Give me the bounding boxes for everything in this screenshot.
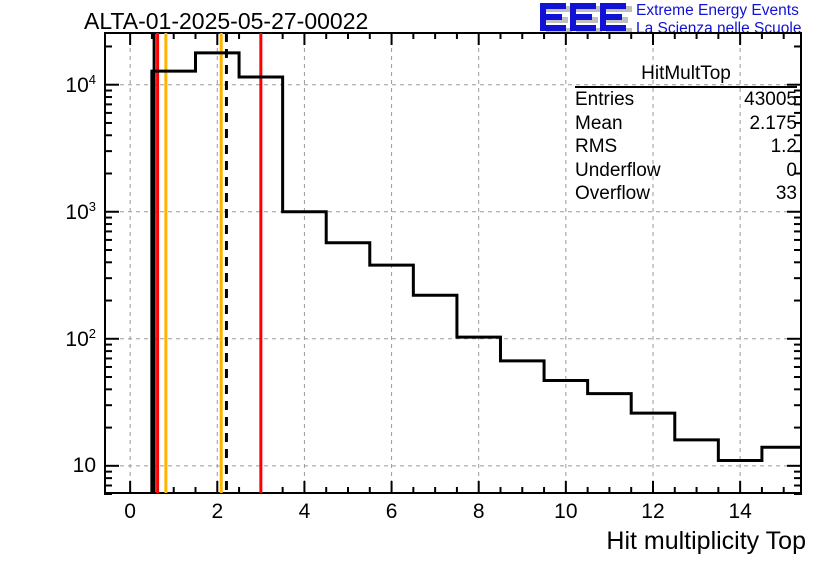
stats-box-rows: Entries43005Mean2.175RMS1.2Underflow0Ove… — [575, 88, 797, 206]
x-tick-label: 10 — [554, 500, 577, 524]
x-tick-label: 12 — [641, 500, 664, 524]
stats-row-value: 33 — [776, 182, 797, 206]
stats-row-label: Mean — [575, 112, 623, 136]
stats-row-value: 1.2 — [771, 135, 797, 159]
stats-row-value: 2.175 — [749, 112, 797, 136]
y-tick-label: 102 — [65, 326, 96, 352]
stats-row-label: RMS — [575, 135, 617, 159]
page-title: ALTA-01-2025-05-27-00022 — [84, 8, 368, 35]
stats-row-value: 43005 — [744, 88, 797, 112]
x-axis-title: Hit multiplicity Top — [606, 527, 806, 556]
stats-row-label: Overflow — [575, 182, 650, 206]
y-tick-label: 10 — [73, 454, 96, 478]
stats-row-label: Entries — [575, 88, 634, 112]
stats-row: RMS1.2 — [575, 135, 797, 159]
stats-box-title: HitMultTop — [575, 63, 797, 88]
x-tick-label: 4 — [299, 500, 311, 524]
stats-row: Mean2.175 — [575, 112, 797, 136]
stats-row: Entries43005 — [575, 88, 797, 112]
stats-row: Overflow33 — [575, 182, 797, 206]
x-tick-label: 2 — [211, 500, 223, 524]
root-canvas: ALTA-01-2025-05-27-00022 — [0, 0, 836, 572]
y-tick-label: 104 — [65, 72, 96, 98]
stats-row: Underflow0 — [575, 159, 797, 183]
stats-row-label: Underflow — [575, 159, 661, 183]
x-tick-label: 14 — [728, 500, 751, 524]
x-tick-label: 6 — [386, 500, 398, 524]
stats-box: HitMultTop Entries43005Mean2.175RMS1.2Un… — [575, 63, 797, 206]
stats-row-value: 0 — [786, 159, 797, 183]
y-tick-label: 103 — [65, 199, 96, 225]
x-tick-label: 0 — [124, 500, 136, 524]
eee-logo-line-1: Extreme Energy Events — [636, 2, 801, 20]
x-tick-label: 8 — [473, 500, 485, 524]
